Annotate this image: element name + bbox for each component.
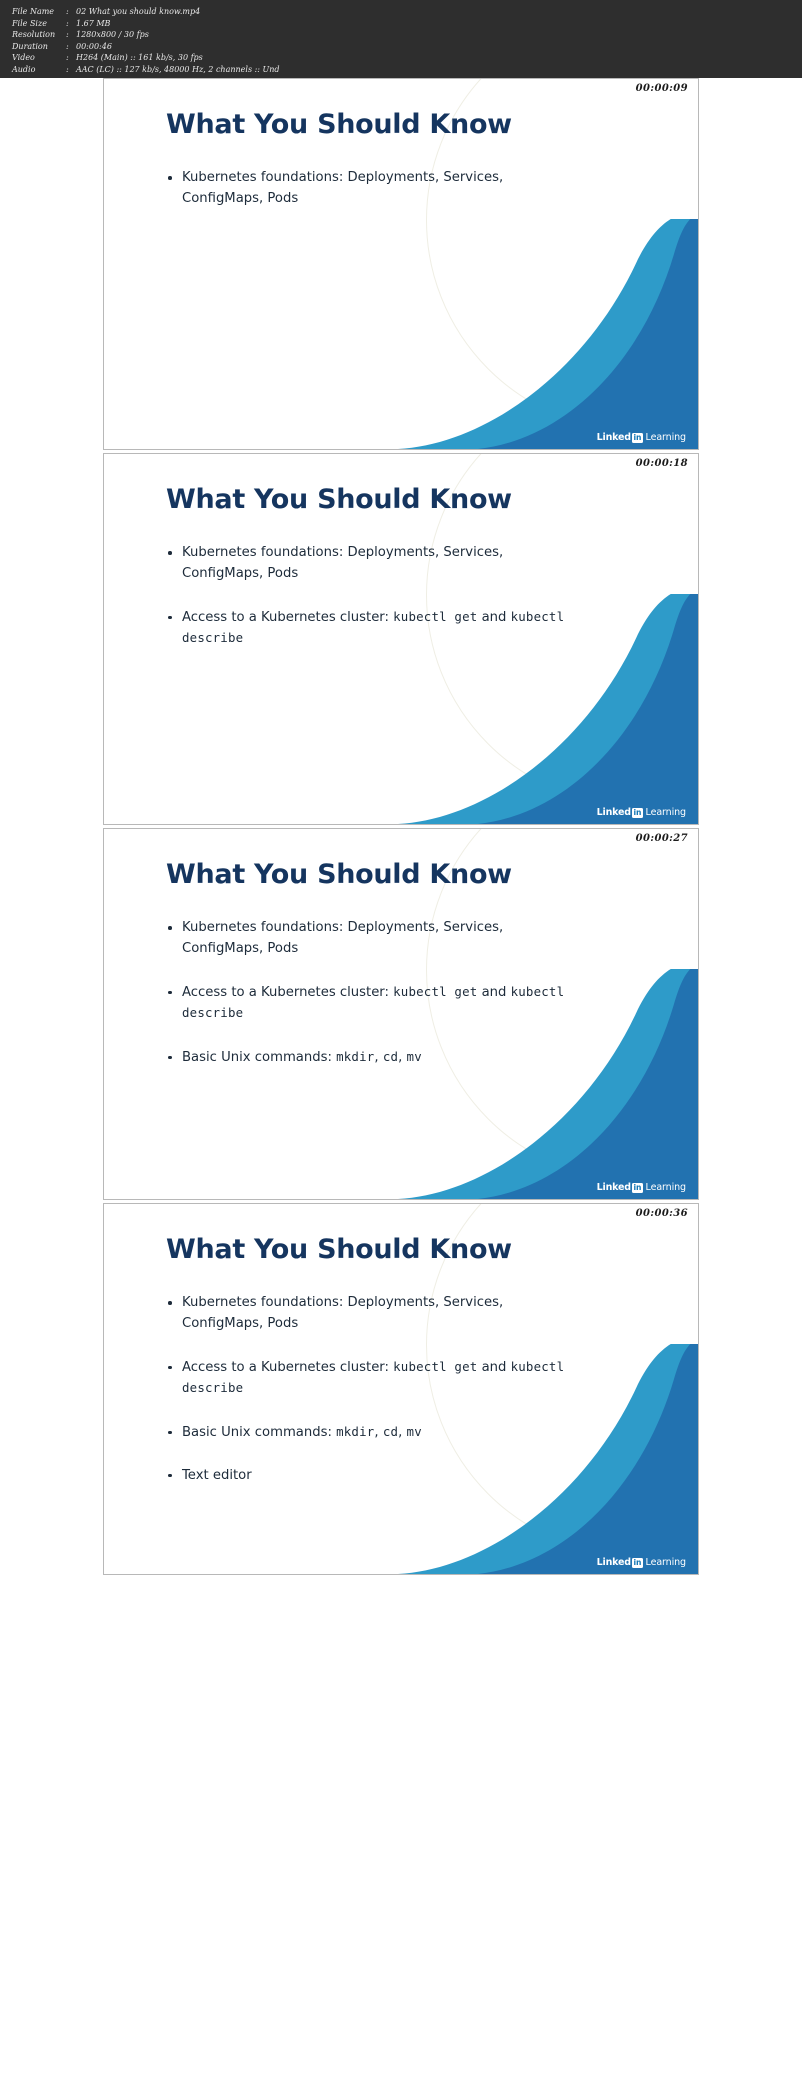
bullet-item: Kubernetes foundations: Deployments, Ser… [166, 1292, 566, 1335]
bullet-text: Kubernetes foundations: Deployments, Ser… [182, 1295, 503, 1331]
inline-command: mkdir [336, 1424, 374, 1439]
inline-command: mv [407, 1049, 422, 1064]
metadata-separator: : [66, 64, 76, 76]
metadata-key: File Size [12, 18, 66, 30]
slide-thumbnail[interactable]: 00:00:36What You Should KnowKubernetes f… [103, 1203, 699, 1575]
metadata-value: H264 (Main) :: 161 kb/s, 30 fps [76, 52, 802, 64]
bullet-item: Access to a Kubernetes cluster: kubectl … [166, 1357, 566, 1400]
metadata-value: 1.67 MB [76, 18, 802, 30]
linkedin-in-icon: in [632, 1558, 643, 1568]
metadata-row: Duration:00:00:46 [12, 41, 802, 53]
metadata-key: File Name [12, 6, 66, 18]
slide-timestamp: 00:00:27 [636, 833, 688, 844]
video-metadata-header: File Name:02 What you should know.mp4Fil… [0, 0, 802, 78]
bullet-item: Kubernetes foundations: Deployments, Ser… [166, 917, 566, 960]
bullet-item: Kubernetes foundations: Deployments, Ser… [166, 542, 566, 585]
metadata-key: Resolution [12, 29, 66, 41]
bullet-list: Kubernetes foundations: Deployments, Ser… [166, 542, 566, 672]
brand-word: Linked [597, 807, 631, 818]
brand-word: Linked [597, 1557, 631, 1568]
slide-title: What You Should Know [166, 109, 512, 140]
linkedin-in-icon: in [632, 433, 643, 443]
brand-word: Linked [597, 432, 631, 443]
brand-learning-word: Learning [646, 1182, 686, 1193]
bullet-item: Basic Unix commands: mkdir, cd, mv [166, 1047, 566, 1068]
bullet-text: Access to a Kubernetes cluster: [182, 985, 393, 1000]
bullet-text: Kubernetes foundations: Deployments, Ser… [182, 920, 503, 956]
metadata-row: File Size:1.67 MB [12, 18, 802, 30]
bullet-text: Access to a Kubernetes cluster: [182, 1360, 393, 1375]
bullet-text: , [398, 1050, 406, 1065]
metadata-key: Duration [12, 41, 66, 53]
metadata-separator: : [66, 29, 76, 41]
slide-title: What You Should Know [166, 484, 512, 515]
bullet-text: and [477, 610, 510, 625]
bullet-item: Basic Unix commands: mkdir, cd, mv [166, 1422, 566, 1443]
metadata-separator: : [66, 52, 76, 64]
inline-command: mv [407, 1424, 422, 1439]
inline-command: cd [383, 1424, 398, 1439]
metadata-row: Audio:AAC (LC) :: 127 kb/s, 48000 Hz, 2 … [12, 64, 802, 76]
bullet-text: Access to a Kubernetes cluster: [182, 610, 393, 625]
metadata-separator: : [66, 6, 76, 18]
metadata-key: Audio [12, 64, 66, 76]
bullet-item: Kubernetes foundations: Deployments, Ser… [166, 167, 566, 210]
linkedin-learning-logo: LinkedinLearning [597, 432, 686, 443]
metadata-separator: : [66, 41, 76, 53]
bullet-text: , [374, 1050, 382, 1065]
brand-learning-word: Learning [646, 807, 686, 818]
metadata-row: Resolution:1280x800 / 30 fps [12, 29, 802, 41]
metadata-key: Video [12, 52, 66, 64]
inline-command: kubectl get [393, 609, 477, 624]
brand-word: Linked [597, 1182, 631, 1193]
metadata-value: 02 What you should know.mp4 [76, 6, 802, 18]
bullet-item: Access to a Kubernetes cluster: kubectl … [166, 982, 566, 1025]
linkedin-learning-logo: LinkedinLearning [597, 807, 686, 818]
metadata-value: AAC (LC) :: 127 kb/s, 48000 Hz, 2 channe… [76, 64, 802, 76]
linkedin-learning-logo: LinkedinLearning [597, 1182, 686, 1193]
metadata-row: File Name:02 What you should know.mp4 [12, 6, 802, 18]
bullet-text: Kubernetes foundations: Deployments, Ser… [182, 170, 503, 206]
metadata-value: 1280x800 / 30 fps [76, 29, 802, 41]
metadata-row: Video:H264 (Main) :: 161 kb/s, 30 fps [12, 52, 802, 64]
brand-learning-word: Learning [646, 432, 686, 443]
inline-command: kubectl get [393, 1359, 477, 1374]
bullet-list: Kubernetes foundations: Deployments, Ser… [166, 917, 566, 1090]
slide-thumbnail[interactable]: 00:00:18What You Should KnowKubernetes f… [103, 453, 699, 825]
decorative-wave [338, 219, 698, 449]
brand-learning-word: Learning [646, 1557, 686, 1568]
bullet-item: Text editor [166, 1465, 566, 1486]
bullet-text: and [477, 1360, 510, 1375]
slide-timestamp: 00:00:09 [636, 83, 688, 94]
bullet-text: Basic Unix commands: [182, 1050, 336, 1065]
bullet-item: Access to a Kubernetes cluster: kubectl … [166, 607, 566, 650]
inline-command: kubectl get [393, 984, 477, 999]
slide-title: What You Should Know [166, 859, 512, 890]
metadata-value: 00:00:46 [76, 41, 802, 53]
slide-timestamp: 00:00:36 [636, 1208, 688, 1219]
slide-thumbnail[interactable]: 00:00:27What You Should KnowKubernetes f… [103, 828, 699, 1200]
linkedin-learning-logo: LinkedinLearning [597, 1557, 686, 1568]
metadata-separator: : [66, 18, 76, 30]
bullet-text: , [398, 1425, 406, 1440]
linkedin-in-icon: in [632, 1183, 643, 1193]
slide-thumbnail[interactable]: 00:00:09What You Should KnowKubernetes f… [103, 78, 699, 450]
slide-thumbnail-list: 00:00:09What You Should KnowKubernetes f… [0, 78, 802, 1578]
metadata-row-list: File Name:02 What you should know.mp4Fil… [12, 6, 802, 75]
inline-command: mkdir [336, 1049, 374, 1064]
slide-title: What You Should Know [166, 1234, 512, 1265]
bullet-list: Kubernetes foundations: Deployments, Ser… [166, 167, 566, 232]
bullet-list: Kubernetes foundations: Deployments, Ser… [166, 1292, 566, 1508]
linkedin-in-icon: in [632, 808, 643, 818]
bullet-text: and [477, 985, 510, 1000]
bullet-text: , [374, 1425, 382, 1440]
bullet-text: Kubernetes foundations: Deployments, Ser… [182, 545, 503, 581]
bullet-text: Basic Unix commands: [182, 1425, 336, 1440]
bullet-text: Text editor [182, 1468, 252, 1483]
slide-timestamp: 00:00:18 [636, 458, 688, 469]
inline-command: cd [383, 1049, 398, 1064]
